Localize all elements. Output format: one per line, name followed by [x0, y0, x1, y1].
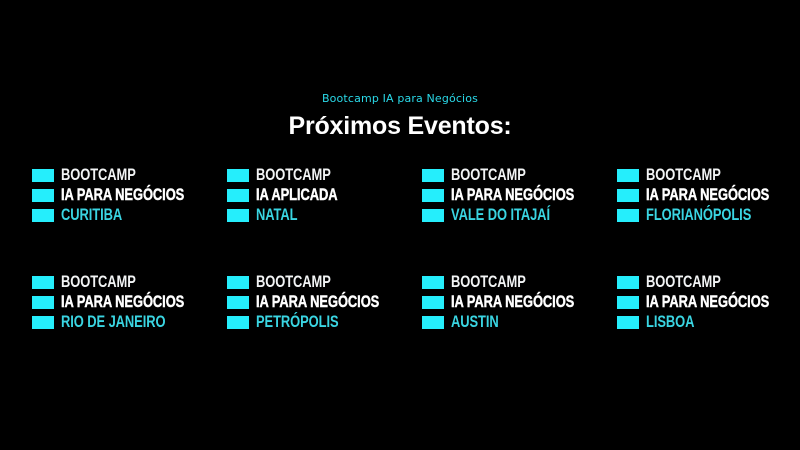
- event-city-label: AUSTIN: [451, 315, 499, 329]
- event-city-label: LISBOA: [646, 315, 694, 329]
- event-line-brand: BOOTCAMP: [227, 275, 354, 289]
- event-topic-label: IA PARA NEGÓCIOS: [451, 188, 574, 202]
- event-card[interactable]: BOOTCAMP IA PARA NEGÓCIOS AUSTIN: [422, 275, 617, 329]
- event-brand-label: BOOTCAMP: [61, 168, 136, 182]
- cyan-square-icon: [617, 189, 639, 202]
- event-line-city: LISBOA: [617, 315, 710, 329]
- event-brand-label: BOOTCAMP: [646, 275, 721, 289]
- cyan-square-icon: [32, 316, 54, 329]
- event-brand-label: BOOTCAMP: [256, 168, 331, 182]
- event-city-label: PETRÓPOLIS: [256, 315, 339, 329]
- event-brand-label: BOOTCAMP: [61, 275, 136, 289]
- event-line-topic: IA PARA NEGÓCIOS: [32, 295, 223, 309]
- event-topic-label: IA PARA NEGÓCIOS: [61, 188, 184, 202]
- event-line-topic: IA PARA NEGÓCIOS: [422, 188, 613, 202]
- event-topic-label: IA PARA NEGÓCIOS: [61, 295, 184, 309]
- slide-header: Bootcamp IA para Negócios Próximos Event…: [0, 92, 800, 140]
- cyan-square-icon: [32, 209, 54, 222]
- event-line-topic: IA PARA NEGÓCIOS: [227, 295, 418, 309]
- event-line-city: RIO DE JANEIRO: [32, 315, 198, 329]
- event-topic-label: IA PARA NEGÓCIOS: [256, 295, 379, 309]
- event-line-city: NATAL: [227, 208, 311, 222]
- event-line-topic: IA PARA NEGÓCIOS: [617, 295, 800, 309]
- event-line-topic: IA PARA NEGÓCIOS: [422, 295, 613, 309]
- cyan-square-icon: [227, 276, 249, 289]
- eyebrow-text: Bootcamp IA para Negócios: [0, 92, 800, 106]
- cyan-square-icon: [32, 189, 54, 202]
- page-title: Próximos Eventos:: [0, 112, 800, 140]
- cyan-square-icon: [32, 276, 54, 289]
- event-line-city: CURITIBA: [32, 208, 141, 222]
- cyan-square-icon: [422, 189, 444, 202]
- event-brand-label: BOOTCAMP: [256, 275, 331, 289]
- cyan-square-icon: [422, 169, 444, 182]
- event-card[interactable]: BOOTCAMP IA PARA NEGÓCIOS RIO DE JANEIRO: [32, 275, 227, 329]
- cyan-square-icon: [617, 209, 639, 222]
- event-topic-label: IA APLICADA: [256, 188, 337, 202]
- event-topic-label: IA PARA NEGÓCIOS: [646, 295, 769, 309]
- cyan-square-icon: [227, 296, 249, 309]
- cyan-square-icon: [617, 169, 639, 182]
- event-line-city: VALE DO ITAJAÍ: [422, 208, 581, 222]
- cyan-square-icon: [32, 169, 54, 182]
- cyan-square-icon: [617, 276, 639, 289]
- event-line-brand: BOOTCAMP: [32, 168, 159, 182]
- cyan-square-icon: [617, 316, 639, 329]
- event-card[interactable]: BOOTCAMP IA PARA NEGÓCIOS FLORIANÓPOLIS: [617, 168, 800, 275]
- cyan-square-icon: [227, 169, 249, 182]
- event-card[interactable]: BOOTCAMP IA PARA NEGÓCIOS LISBOA: [617, 275, 800, 329]
- event-city-label: FLORIANÓPOLIS: [646, 208, 751, 222]
- event-brand-label: BOOTCAMP: [451, 168, 526, 182]
- event-city-label: VALE DO ITAJAÍ: [451, 208, 550, 222]
- event-brand-label: BOOTCAMP: [451, 275, 526, 289]
- event-card[interactable]: BOOTCAMP IA PARA NEGÓCIOS PETRÓPOLIS: [227, 275, 422, 329]
- cyan-square-icon: [422, 276, 444, 289]
- cyan-square-icon: [422, 209, 444, 222]
- cyan-square-icon: [422, 296, 444, 309]
- event-brand-label: BOOTCAMP: [646, 168, 721, 182]
- event-line-brand: BOOTCAMP: [32, 275, 159, 289]
- event-line-city: AUSTIN: [422, 315, 514, 329]
- cyan-square-icon: [422, 316, 444, 329]
- cyan-square-icon: [32, 296, 54, 309]
- event-line-brand: BOOTCAMP: [617, 275, 744, 289]
- event-line-topic: IA PARA NEGÓCIOS: [617, 188, 800, 202]
- event-city-label: NATAL: [256, 208, 297, 222]
- cyan-square-icon: [227, 189, 249, 202]
- event-city-label: RIO DE JANEIRO: [61, 315, 165, 329]
- events-grid: BOOTCAMP IA PARA NEGÓCIOS CURITIBA BOOTC…: [32, 168, 768, 329]
- event-card[interactable]: BOOTCAMP IA PARA NEGÓCIOS VALE DO ITAJAÍ: [422, 168, 617, 275]
- event-line-brand: BOOTCAMP: [227, 168, 354, 182]
- cyan-square-icon: [227, 316, 249, 329]
- event-line-city: PETRÓPOLIS: [227, 315, 365, 329]
- event-topic-label: IA PARA NEGÓCIOS: [451, 295, 574, 309]
- event-card[interactable]: BOOTCAMP IA PARA NEGÓCIOS CURITIBA: [32, 168, 227, 275]
- cyan-square-icon: [617, 296, 639, 309]
- event-line-city: FLORIANÓPOLIS: [617, 208, 784, 222]
- event-line-topic: IA APLICADA: [227, 188, 363, 202]
- event-card[interactable]: BOOTCAMP IA APLICADA NATAL: [227, 168, 422, 275]
- events-slide: Bootcamp IA para Negócios Próximos Event…: [0, 0, 800, 450]
- event-city-label: CURITIBA: [61, 208, 122, 222]
- cyan-square-icon: [227, 209, 249, 222]
- event-topic-label: IA PARA NEGÓCIOS: [646, 188, 769, 202]
- event-line-brand: BOOTCAMP: [422, 275, 549, 289]
- event-line-brand: BOOTCAMP: [422, 168, 549, 182]
- event-line-brand: BOOTCAMP: [617, 168, 744, 182]
- event-line-topic: IA PARA NEGÓCIOS: [32, 188, 223, 202]
